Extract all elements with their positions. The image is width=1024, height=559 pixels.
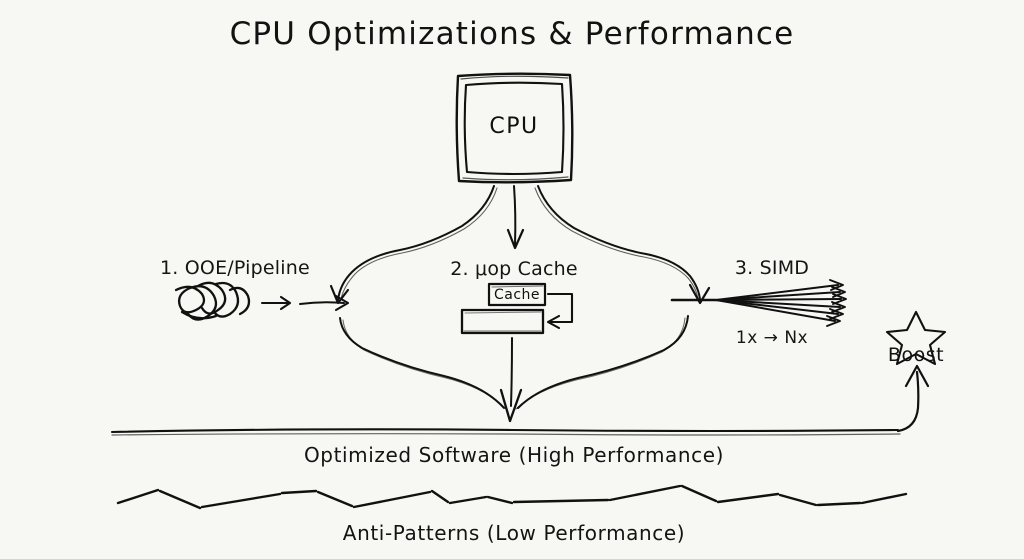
optimized-software-line [112, 429, 900, 435]
boost-arrow [898, 366, 928, 431]
converge-center-arrow [511, 338, 512, 406]
cache-box-label: Cache [494, 287, 540, 303]
converge-right-arrow [516, 316, 688, 409]
cpu-node-label: CPU [489, 114, 538, 139]
cpu-to-cache-arrow [508, 186, 523, 248]
converge-left-arrow [340, 318, 506, 409]
boost-label: Boost [888, 344, 944, 366]
ooe-arrow-long [300, 296, 348, 310]
cpu-to-ooe-arrow [331, 186, 497, 303]
branch-label-ooe: 1. OOE/Pipeline [160, 257, 310, 279]
diagram-canvas: CPU Optimizations & Performance CPU 1. O… [0, 0, 1024, 559]
anti-patterns-line [118, 486, 906, 508]
outcome-caption-optimized: Optimized Software (High Performance) [304, 443, 724, 467]
outcome-caption-anti-patterns: Anti-Patterns (Low Performance) [343, 521, 685, 545]
cache-feedback-arrow [548, 294, 572, 328]
page-title: CPU Optimizations & Performance [230, 16, 795, 52]
uop-buffer-box[interactable] [462, 310, 543, 333]
cpu-to-simd-arrow [535, 186, 709, 303]
ooe-arrow-short [262, 297, 290, 309]
simd-sublabel: 1x → Nx [736, 328, 808, 348]
simd-fan-icon [672, 280, 846, 326]
branch-label-uop-cache: 2. μop Cache [450, 258, 577, 280]
branch-label-simd: 3. SIMD [735, 257, 809, 279]
ooe-scribble-icon [176, 283, 249, 320]
